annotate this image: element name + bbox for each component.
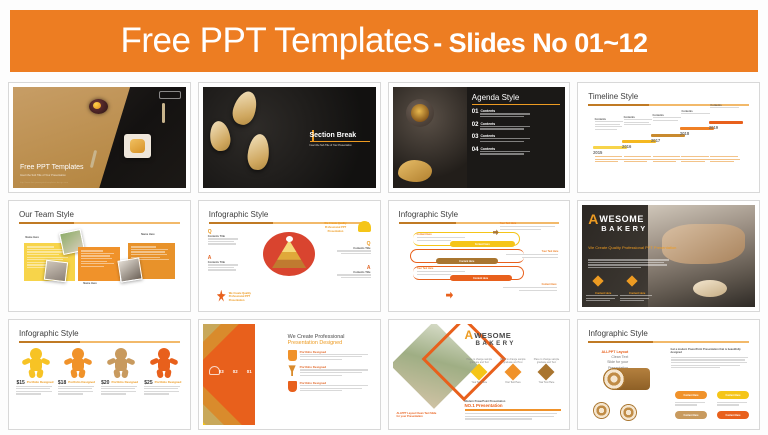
badge-diamond-icon [593,275,604,286]
juice-icon [288,350,297,361]
qa-right-1: Q Contents Title [337,241,371,255]
agenda-number: 02 [472,122,479,128]
timeline-head-block: Contents [681,110,713,116]
team-card [78,247,120,281]
right-heading: Get a modern PowerPoint Presentation tha… [671,348,750,355]
slide-11-photo-caption: ALLPPT Layout Clean Text Slide for your … [397,412,441,419]
slide-thumb-10[interactable]: 03 02 01 We Create Professional Presenta… [198,319,381,430]
team-layout: Name Here Name Here [19,229,180,287]
diamond-bottom-text: Your Text Here [465,381,495,384]
agenda-body [480,151,530,155]
slide-2-canvas: Section Break Insert the Sub Title of Yo… [203,87,376,188]
timeline-footnote [710,156,742,164]
qa-right-2: A Contents Title [337,265,371,279]
slide-thumb-1[interactable]: Free PPT Templates Insert the Sub Title … [8,82,191,193]
header-banner: Free PPT Templates- Slides No 01~12 [10,10,758,72]
slide-6-callout: We Create Quality Professional PPT Prese… [318,222,354,233]
slide-3-content: Agenda Style 01 Contents 02 [467,87,565,188]
gingerbread-man-icon [151,348,177,378]
slide-5-canvas: Our Team Style Name Here [13,205,186,306]
arrow-right-icon [446,292,453,299]
bread-loaf-icon [246,133,271,171]
chevron-number: 02 [233,369,238,374]
content-pill: Content Here [717,411,749,419]
pill-body [675,402,707,407]
slide-thumb-5[interactable]: Our Team Style Name Here [8,200,191,311]
cake-slice-icon [272,240,306,268]
slide-3-title: Agenda Style [472,93,560,102]
slide-catalog-page: Free PPT Templates- Slides No 01~12 Free… [0,0,768,435]
coffee-photo [393,87,467,188]
slide-1-subtitle: Insert the Sub Title of Your Presentatio… [20,174,84,177]
diamond-item: Place to change sample graduate and Text… [498,358,528,385]
timeline-footnote [595,156,627,164]
diamond-bottom-text: Your Text Here [532,381,562,384]
timeline-head-block: Contents [595,118,627,131]
slide-7-canvas: Infographic Style Content Here Content H… [393,205,566,306]
flow-note: Your Text Here [500,222,559,231]
slide-5-title: Our Team Style [19,210,180,219]
logo-word-bakery: BAKERY [601,224,648,233]
feature-item: Portfolio Designed [288,365,371,377]
chevron-number: 01 [247,369,252,374]
timeline-footnote [681,156,713,164]
agenda-item: 04 Contents [472,147,560,156]
slide-8-badge: Content Here [586,292,620,303]
timeline-year: 2015 [593,150,627,155]
coffee-cup-icon [406,99,434,127]
diamond-icon [504,364,521,381]
pill-body [717,402,749,407]
slide-8-logo-text: A WESOME BAKERY [588,214,648,233]
content-pill: Content Here [717,391,749,399]
slide-thumb-12[interactable]: Infographic Style ALLPPT Layout Clean Te… [577,319,760,430]
diamond-bottom-text: Your Text Here [498,381,528,384]
timeline-chart: 2015 Contents 2016 Conten [588,112,749,172]
qa-left-2: A Contents Title [208,255,238,272]
slide-11-canvas: ALLPPT Layout Clean Text Slide for your … [393,324,566,425]
slide-11-footer: Modern PowerPoint Presentation NO.1 Pres… [465,400,562,421]
timeline-head-block: Contents [653,114,685,122]
slide-thumb-2[interactable]: Section Break Insert the Sub Title of Yo… [198,82,381,193]
team-member-name: Name Here [25,236,39,239]
timeline-year: 2017 [651,138,685,143]
flow-pill: Content Here [450,241,516,247]
slide-thumb-7[interactable]: Infographic Style Content Here Content H… [388,200,571,311]
diamond-row: Place to change sample graduate and Text… [465,358,562,385]
price-value: $15 [16,380,24,386]
diamond-icon [538,364,555,381]
diamond-item: Place to change sample graduate and Text… [465,358,495,385]
agenda-item: 03 Contents [472,134,560,143]
slide-9-title: Infographic Style [19,329,180,338]
logo-letter-a: A [465,331,474,341]
gingerbread-man-icon [65,348,91,378]
slide-3-canvas: Agenda Style 01 Contents 02 [393,87,566,188]
slide-11-logo: A WESOME BAKERY [465,331,562,347]
swiss-roll-slice-icon [593,402,610,419]
team-photo [44,260,68,283]
coffee-cup-icon [288,381,297,392]
slide-1-title-line1: Free PPT Templates [20,164,84,173]
agenda-item: 01 Contents [472,109,560,118]
slide-9-canvas: Infographic Style $15 Portfo [13,324,186,425]
slide-2-text: Section Break Insert the Sub Title of Yo… [310,132,370,148]
baker-arms [662,224,745,265]
team-member-name: Name Here [141,233,155,236]
slide-12-right: Get a modern PowerPoint Presentation tha… [671,348,750,370]
allppt-logo [159,91,181,99]
slide-11-headline: NO.1 Presentation [465,403,562,408]
timeline-head-block: Contents [710,104,742,110]
bread-loaf-icon [208,120,232,152]
slide-7-title: Infographic Style [399,210,560,219]
diamond-item: Place to change sample graduate and Text… [532,358,562,385]
fork-icon [162,103,165,123]
slide-thumb-8[interactable]: A WESOME BAKERY We Create Quality Profes… [577,200,760,311]
flow-note: Content Here [417,233,469,242]
slide-2-subtitle: Insert the Sub Title of Your Presentatio… [310,144,370,147]
flow-note: Your Text Here [503,250,558,259]
chef-hat-icon [209,366,220,375]
cake-plate [263,232,315,276]
slide-8-canvas: A WESOME BAKERY We Create Quality Profes… [582,205,755,306]
cream-dollop-icon [286,236,293,242]
banner-title-sub: - Slides No 01~12 [433,28,647,58]
feature-item: Portfolio Designed [288,381,371,393]
agenda-number: 03 [472,134,479,140]
timeline-head-block: Contents [624,116,656,127]
slide-8-badge: Content Here [620,292,654,303]
slide-12-canvas: Infographic Style ALLPPT Layout Clean Te… [582,324,755,425]
flow-note: Content Here [500,283,557,292]
slide-2-title: Section Break [310,132,370,139]
flow-note: Your Text Here [417,267,469,276]
slide-8-subtitle: We Create Quality Professional PPT Prese… [588,245,676,250]
price-label: Portfolio Designed [111,381,138,384]
slide-8-body [588,259,676,269]
slide-3-rule [472,104,560,105]
slide-10-heading-2: Presentation Designed [288,340,371,346]
price-label: Portfolio Designed [155,381,182,384]
timeline-footnote [653,156,685,164]
agenda-item: 02 Contents [472,122,560,131]
logo-word-awesome: WESOME [465,331,562,340]
slide-grid: Free PPT Templates Insert the Sub Title … [8,82,760,430]
team-member-name: Name Here [83,282,97,285]
timeline-step: 2019 [709,121,743,130]
price-column: $18 Portfolio Designed [58,348,98,396]
banner-title: Free PPT Templates- Slides No 01~12 [120,21,647,61]
chef-hat-icon [358,221,371,232]
price-label: Portfolio Designed [68,381,95,384]
team-photo [117,258,142,283]
slide-thumb-11[interactable]: ALLPPT Layout Clean Text Slide for your … [388,319,571,430]
slide-6-canvas: Infographic Style Q Contents Title A Con [203,205,376,306]
gingerbread-man-icon [23,348,49,378]
qa-left-1: Q Contents Title [208,229,238,246]
content-pill: Content Here [675,391,707,399]
dough-icon [693,280,727,297]
slide-4-canvas: Timeline Style 2015 Contents [582,87,755,188]
pastry-icon [398,160,432,182]
slide-6-callout-2: We Create Quality Professional PPT Prese… [229,292,263,303]
slide-10-canvas: 03 02 01 We Create Professional Presenta… [203,324,376,425]
logo-letter-a: A [588,214,598,226]
gingerbread-man-icon [108,348,134,378]
slide-1-footer: http://www.free-powerpoint-templates-des… [20,182,68,184]
slide-12-title: Infographic Style [588,329,749,338]
price-column: $15 Portfolio Designed [16,348,56,396]
bread-loaf-icon [229,88,260,127]
food-plate-icon [124,134,151,158]
banner-title-main: Free PPT Templates [120,21,429,60]
agenda-number: 01 [472,109,479,115]
agenda-body [480,138,530,142]
agenda-number: 04 [472,147,479,153]
content-pill: Content Here [675,411,707,419]
timeline-year: 2018 [680,131,714,136]
slide-6-title: Infographic Style [209,210,370,219]
slide-thumb-9[interactable]: Infographic Style $15 Portfo [8,319,191,430]
timeline-year: 2016 [622,144,656,149]
flow-pill: Content Here [436,258,498,264]
price-column: $20 Portfolio Designed [101,348,141,396]
swiss-roll-slice-icon [620,404,637,421]
price-value: $18 [58,380,66,386]
slide-2-rule [310,141,370,143]
timeline-footnote [624,156,656,164]
slide-thumb-4[interactable]: Timeline Style 2015 Contents [577,82,760,193]
slide-4-title: Timeline Style [588,92,749,101]
price-column: $25 Portfolio Designed [144,348,184,396]
feature-item: Portfolio Designed [288,350,371,362]
flow-pill: Content Here [450,275,512,281]
price-label: Portfolio Designed [27,381,54,384]
slide-thumb-3[interactable]: Agenda Style 01 Contents 02 [388,82,571,193]
logo-word-bakery: BAKERY [476,340,562,347]
agenda-body [480,126,530,130]
slide-thumb-6[interactable]: Infographic Style Q Contents Title A Con [198,200,381,311]
slide-1-text: Free PPT Templates Insert the Sub Title … [20,164,84,178]
agenda-body [480,113,530,117]
price-value: $20 [101,380,109,386]
slide-1-canvas: Free PPT Templates Insert the Sub Title … [13,87,186,188]
glass-icon [288,365,297,376]
diamond-icon [471,364,488,381]
cutlery-icon [217,290,226,302]
price-value: $25 [144,380,152,386]
timeline-year: 2019 [709,125,743,130]
badge-diamond-icon [627,275,638,286]
slide-10-right: We Create Professional Presentation Desi… [288,334,371,397]
